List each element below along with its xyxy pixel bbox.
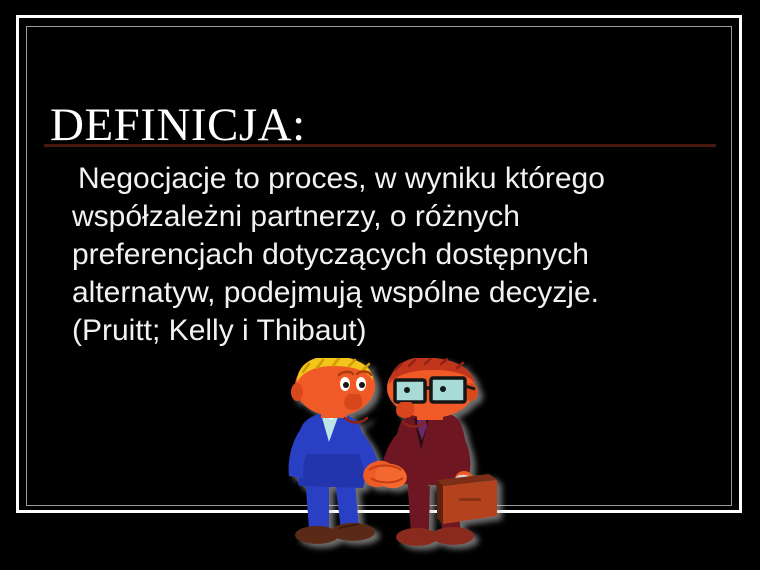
slide-body-text: Negocjacje to proces, w wyniku którego w…: [72, 160, 697, 350]
handshake-businessmen-clipart: [283, 358, 515, 568]
title-divider-rule: [44, 144, 716, 147]
presentation-slide: DEFINICJA: Negocjacje to proces, w wynik…: [0, 0, 760, 570]
